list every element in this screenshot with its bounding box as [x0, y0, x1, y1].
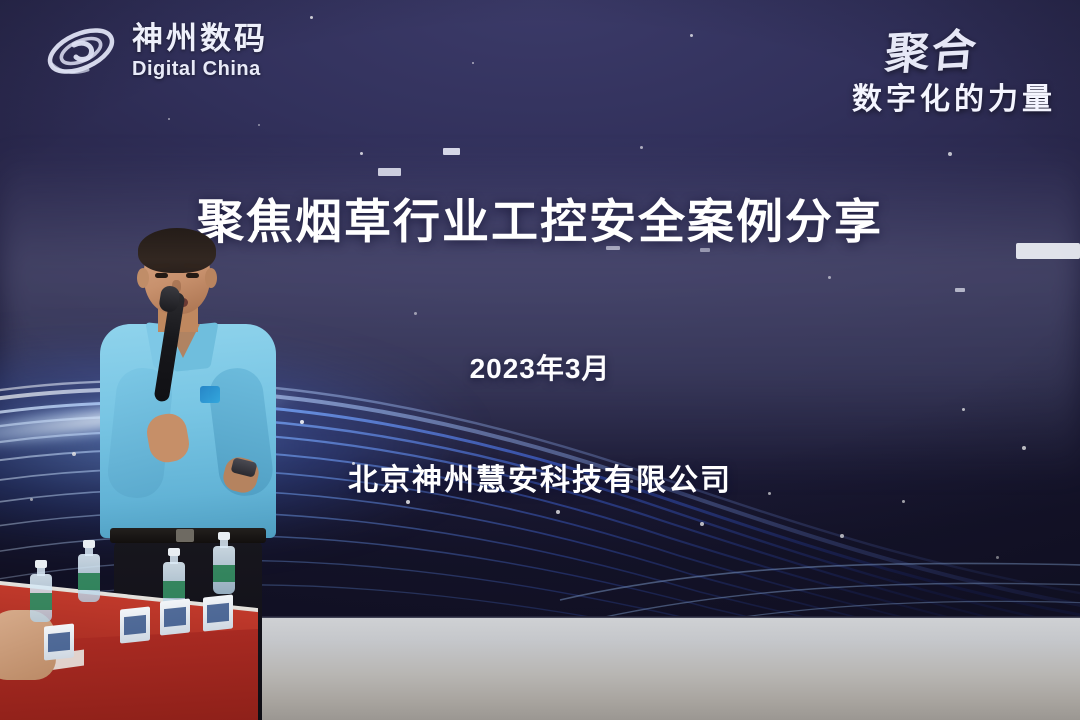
name-card: [120, 606, 150, 643]
water-bottle: [213, 532, 235, 594]
speaker-ear-right: [205, 268, 217, 288]
speaker-person: [92, 228, 282, 628]
brand-name-cn: 神州数码: [132, 23, 268, 54]
speaker-hair: [138, 228, 216, 273]
water-bottle: [78, 540, 100, 602]
name-card: [203, 594, 233, 631]
speaker-eye-left: [155, 273, 168, 278]
name-card: [160, 598, 190, 635]
speaker-ear-left: [137, 268, 149, 288]
slogan-calligraphy: 聚合: [883, 14, 981, 83]
speaker-eye-right: [186, 273, 199, 278]
conference-photo: 神州数码 Digital China 聚合 数字化的力量 聚焦烟草行业工控安全案…: [0, 0, 1080, 720]
water-bottle: [30, 560, 52, 622]
brand-name-en: Digital China: [132, 59, 268, 79]
speaker-belt-buckle: [176, 529, 194, 542]
swirl-galaxy-logo-icon: [44, 20, 118, 82]
name-card: [44, 623, 74, 660]
brand-logo: 神州数码 Digital China: [44, 20, 268, 82]
shirt-logo-icon: [200, 386, 220, 403]
event-slogan: 聚合 数字化的力量: [852, 16, 1056, 118]
